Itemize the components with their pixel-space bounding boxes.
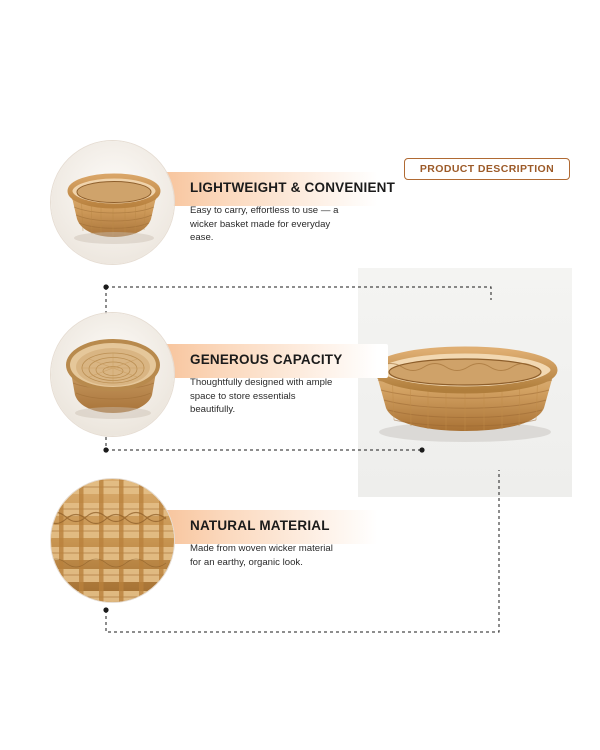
feature-title: GENEROUS CAPACITY <box>190 352 342 367</box>
connector-dot-3 <box>103 607 108 612</box>
feature-body: Made from woven wicker material for an e… <box>190 542 340 569</box>
wicker-weave-closeup-photo <box>50 478 175 603</box>
wicker-basket-interior-photo <box>50 312 175 437</box>
product-description-infographic: PRODUCT DESCRIPTION <box>0 0 600 750</box>
feature-body: Easy to carry, effortless to use — a wic… <box>190 204 340 245</box>
badge-label: PRODUCT DESCRIPTION <box>420 163 554 175</box>
feature-title: NATURAL MATERIAL <box>190 518 330 533</box>
feature-title: LIGHTWEIGHT & CONVENIENT <box>190 180 395 195</box>
connector-dot-1 <box>103 284 108 289</box>
product-description-badge: PRODUCT DESCRIPTION <box>404 158 570 180</box>
wicker-basket-angled-photo <box>50 140 175 265</box>
feature-body: Thoughtfully designed with ample space t… <box>190 376 340 417</box>
wicker-basket-front-photo <box>358 268 572 497</box>
connector-dot-2 <box>103 447 108 452</box>
